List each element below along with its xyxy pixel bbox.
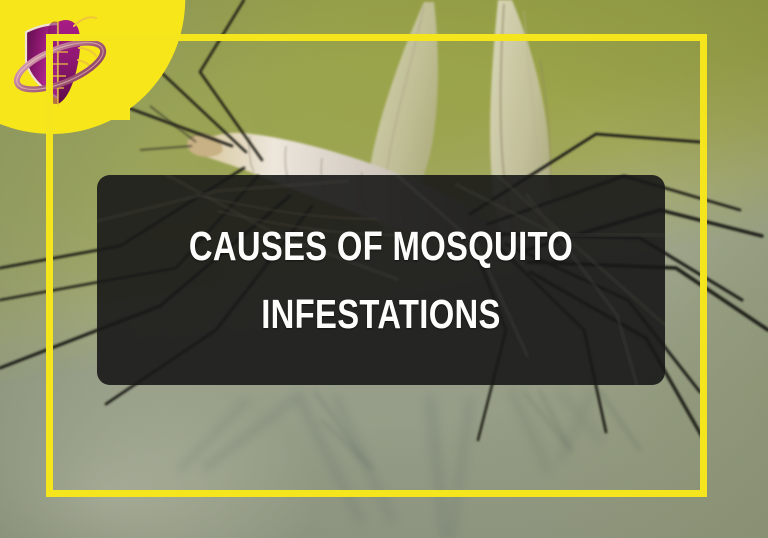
dark-title-overlay: CAUSES OF MOSQUITO INFESTATIONS xyxy=(97,175,665,385)
featured-image-canvas: CAUSES OF MOSQUITO INFESTATIONS xyxy=(0,0,768,538)
page-title-line-1: CAUSES OF MOSQUITO xyxy=(154,226,608,267)
page-title-line-2: INFESTATIONS xyxy=(154,294,608,335)
company-logo[interactable] xyxy=(8,6,112,118)
